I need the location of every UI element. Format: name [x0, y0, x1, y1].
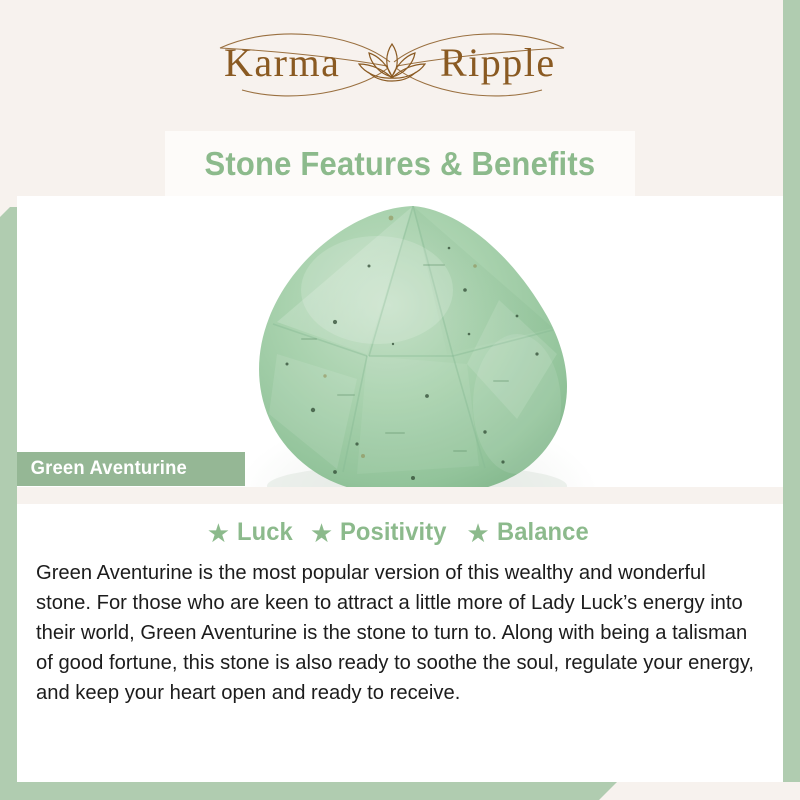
stone-photo — [17, 196, 783, 487]
keyword-item-luck: ★ Luck — [207, 518, 296, 547]
keyword-label: Balance — [497, 518, 589, 547]
description-section: ★ Luck ★ Positivity ★ Balance Green Aven… — [17, 504, 783, 782]
stone-name-label: Green Aventurine — [17, 452, 245, 486]
frame-right-band — [783, 0, 800, 782]
divider-strip — [17, 487, 783, 504]
frame-left-band — [0, 207, 17, 800]
section-title-banner: Stone Features & Benefits — [165, 131, 635, 196]
product-info-card: Karma Ripple Stone Features & Benefits — [0, 0, 800, 800]
keyword-item-positivity: ★ Positivity — [310, 518, 452, 547]
keyword-item-balance: ★ Balance — [466, 518, 593, 547]
star-icon: ★ — [207, 520, 230, 546]
keyword-list: ★ Luck ★ Positivity ★ Balance — [17, 518, 783, 547]
keyword-label: Luck — [237, 518, 293, 547]
stone-name-text: Green Aventurine — [17, 458, 187, 480]
brand-name-right: Ripple — [440, 40, 556, 85]
section-title: Stone Features & Benefits — [205, 145, 596, 183]
frame-bottom-band — [0, 782, 617, 800]
description-paragraph: Green Aventurine is the most popular ver… — [36, 558, 761, 708]
star-icon: ★ — [466, 520, 489, 546]
green-aventurine-stone-image — [217, 204, 617, 487]
brand-logo: Karma Ripple — [0, 26, 783, 102]
brand-name-left: Karma — [224, 40, 340, 85]
star-icon: ★ — [310, 520, 333, 546]
keyword-label: Positivity — [340, 518, 447, 547]
brand-logo-svg: Karma Ripple — [182, 26, 602, 102]
